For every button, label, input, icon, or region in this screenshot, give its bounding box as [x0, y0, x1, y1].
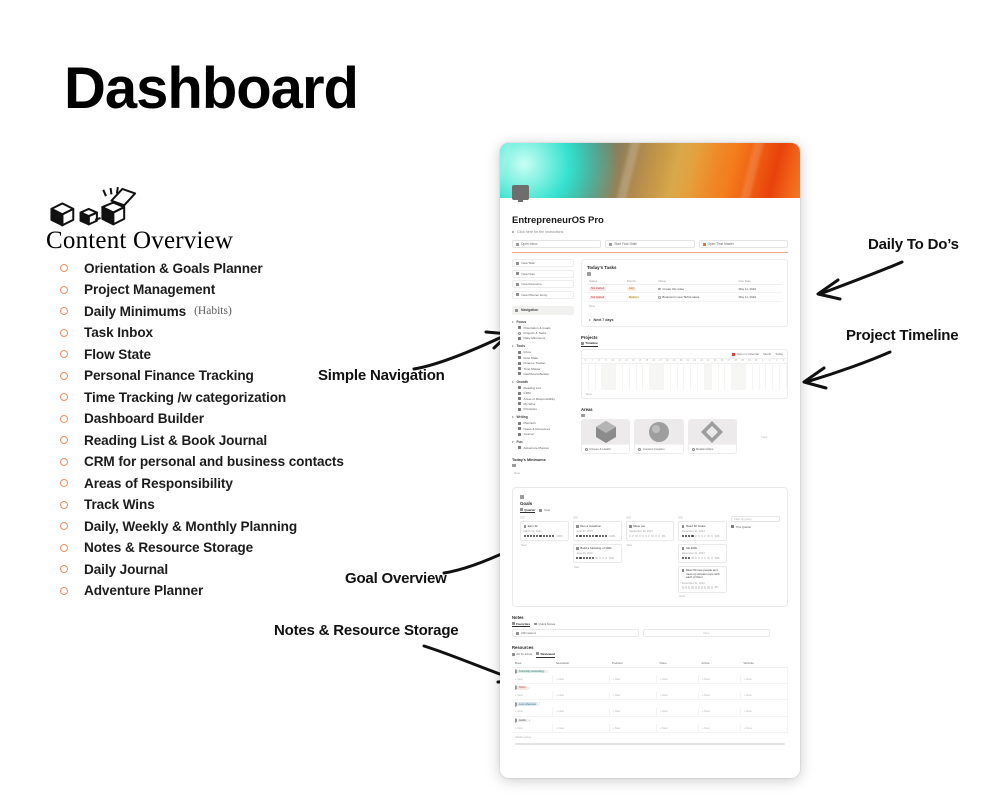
cell-empty	[775, 293, 782, 301]
timeline-cell[interactable]	[637, 364, 644, 390]
progress-dot	[583, 535, 585, 537]
progress-dot	[701, 586, 703, 588]
tab-quick-notes[interactable]: Quick Notes	[534, 622, 555, 627]
timeline-tick: 1	[760, 359, 767, 363]
progress-dot	[682, 586, 684, 588]
cell-empty	[775, 284, 782, 292]
goal-date: December 31, 2024	[682, 582, 724, 585]
progress-dot	[599, 557, 601, 559]
timeline-toolbar: Open in Calendar Month Today	[582, 350, 787, 358]
goal-name: Read 52 books	[686, 525, 705, 529]
quick-action-item[interactable]: New Resource	[512, 280, 574, 288]
progress-dot	[695, 557, 697, 559]
resource-cell[interactable]: + New	[512, 692, 553, 700]
progress-dot	[711, 586, 713, 588]
table-body: Not startedHighCreate this videoMay 11, …	[587, 284, 782, 301]
goal-icon	[682, 547, 685, 550]
tab-quarter[interactable]: Quarter	[520, 508, 535, 514]
nav-group-title[interactable]: Fun	[512, 440, 574, 444]
progress-dot	[645, 535, 647, 537]
nav-group: ToolsInboxFlow StateFinance TrackerTime …	[512, 344, 574, 376]
progress-dot	[685, 535, 687, 537]
compass-icon	[515, 309, 518, 312]
timeline-tick: 12	[623, 359, 630, 363]
goal-card-title: Earn 3k	[524, 525, 566, 529]
resource-cell[interactable]: + New	[553, 675, 609, 683]
timeline-tick: 8	[596, 359, 603, 363]
status-badge: Not started	[589, 287, 606, 291]
area-thumbnail	[635, 420, 682, 444]
resource-cell[interactable]: + New	[698, 724, 740, 732]
resources-column-header[interactable]: Article	[698, 660, 740, 668]
resource-cell[interactable]: + New	[656, 708, 698, 716]
tab-timeline[interactable]: Timeline	[581, 341, 598, 347]
quick-action-item[interactable]: New Note	[512, 270, 574, 278]
timeline-cell[interactable]	[609, 364, 616, 390]
goal-progress: 100%	[576, 535, 618, 538]
kanban-column-header	[520, 516, 569, 519]
nav-group-title[interactable]: Tools	[512, 344, 574, 348]
resource-cell[interactable]: + New	[698, 692, 740, 700]
header-button-label: Start Flow State	[614, 242, 637, 246]
tab-favorites[interactable]: Favorites	[512, 622, 530, 628]
timeline-tick: 4	[780, 359, 787, 363]
goal-progress: 0%	[682, 586, 724, 589]
flow-icon	[518, 356, 521, 359]
timeline-cell[interactable]	[719, 364, 726, 390]
priority-badge: High	[627, 287, 637, 291]
quick-action-label: New Task	[522, 261, 535, 265]
timeline-cell[interactable]	[766, 364, 773, 390]
sidebar-item-daily-minimums[interactable]: Daily Minimums	[512, 336, 574, 341]
progress-dot	[704, 557, 706, 559]
progress-dot	[536, 535, 538, 537]
area-label: Fitness & Health	[590, 447, 611, 451]
next-7-days-toggle[interactable]: Next 7 days	[587, 318, 782, 322]
navigation-header[interactable]: Navigation	[512, 306, 574, 315]
list-item-label: Time Tracking /w categorization	[84, 390, 286, 405]
note-item-label: New	[704, 631, 710, 635]
header-button[interactable]: Open Time Master	[699, 240, 788, 248]
goal-card[interactable]: Move outSeptember 30, 20240%	[626, 521, 675, 541]
area-card[interactable]: Relationships	[688, 419, 737, 454]
list-item-label: Orientation & Goals Planner	[84, 261, 263, 276]
annotation-daily-todos: Daily To Do’s	[868, 236, 959, 253]
kanban-column: Read 52 booksDecember 31, 202440%Ski 400…	[678, 516, 727, 598]
area-icon	[585, 448, 588, 451]
progress-dot	[632, 535, 634, 537]
timeline-tick: 3	[773, 359, 780, 363]
tag-icon	[731, 525, 734, 528]
progress-dot	[711, 535, 713, 537]
arrow-project-timeline-icon	[800, 348, 895, 396]
kanban-column-header	[626, 516, 675, 519]
resource-cell[interactable]: + New	[698, 708, 740, 716]
checkbox-icon[interactable]	[658, 296, 661, 299]
layers-icon	[518, 397, 521, 400]
quick-action-list: New TaskNew NoteNew ResourceNew Planner …	[512, 259, 574, 299]
column-header[interactable]: Due Date	[737, 278, 775, 285]
quick-action-label: New Planner Entry	[522, 293, 548, 297]
goal-date: March 31, 2024	[524, 530, 566, 533]
flow-icon	[609, 243, 612, 246]
column-header[interactable]: Status	[587, 278, 625, 285]
calendar-icon	[516, 293, 519, 296]
resource-cell[interactable]: + New	[553, 692, 609, 700]
cell-priority: Medium	[625, 293, 656, 301]
cell-status: Not started	[587, 284, 625, 292]
goal-percent: 0%	[662, 535, 665, 538]
column-chip	[678, 516, 683, 519]
annotation-notes-resource-storage: Notes & Resource Storage	[274, 622, 458, 639]
timeline-cell[interactable]	[746, 364, 753, 390]
kanban-column-header	[573, 516, 622, 519]
goal-date: December 31, 2024	[682, 530, 724, 533]
bullet-icon	[60, 372, 68, 380]
goal-name: Earn 3k	[528, 525, 538, 529]
kanban-column: Run a marathonJune 30, 2024100%Build a f…	[573, 516, 622, 598]
timeline-cell[interactable]	[698, 364, 705, 390]
cell-due-date: May 11, 2024	[737, 293, 775, 301]
bullet-icon	[60, 307, 68, 315]
goal-progress: 0%	[629, 535, 671, 538]
progress-dot	[602, 557, 604, 559]
timeline-cell[interactable]	[684, 364, 691, 390]
note-item[interactable]: Affirmations	[512, 629, 639, 637]
bullet-icon	[60, 264, 68, 272]
open-in-calendar-button[interactable]: Open in Calendar	[732, 352, 759, 356]
timeline-cell[interactable]	[725, 364, 732, 390]
goal-icon	[682, 525, 685, 528]
tab-timeline-label: Timeline	[585, 341, 598, 345]
tab-year[interactable]: Year	[539, 508, 550, 513]
goal-card[interactable]: Read 52 booksDecember 31, 202440%	[678, 521, 727, 541]
tasks-view-icon	[587, 272, 591, 276]
resource-cell[interactable]: + New	[740, 708, 787, 716]
resource-cell[interactable]: + New	[609, 708, 656, 716]
resource-cell[interactable]: + New	[512, 675, 553, 683]
list-item-label: Task Inbox	[84, 325, 153, 340]
timeline-tick: 21	[684, 359, 691, 363]
resource-cell[interactable]: + New	[656, 675, 698, 683]
tab-label: All To Inbox	[516, 652, 532, 656]
header-button[interactable]: Start Flow State	[605, 240, 694, 248]
progress-dot	[651, 535, 653, 537]
list-item-label: Project Management	[84, 282, 215, 297]
sidebar-item-dashboard-builder[interactable]: Dashboard Builder	[512, 371, 574, 376]
kanban-new-button[interactable]: New	[626, 544, 675, 547]
timeline-tick: 7	[589, 359, 596, 363]
progress-dot	[658, 535, 660, 537]
area-new-button[interactable]: New	[741, 419, 788, 454]
nav-group-title[interactable]: Growth	[512, 380, 574, 384]
sidebar-item-label: Adventure Planner	[524, 446, 550, 450]
resource-cell[interactable]: + New	[656, 724, 698, 732]
resource-cell[interactable]: + New	[553, 708, 609, 716]
resource-data-row[interactable]: + New+ New+ New+ New+ New+ New	[512, 692, 788, 700]
resource-cell[interactable]: + New	[609, 675, 656, 683]
list-item-label: Flow State	[84, 347, 151, 362]
resource-group-count: 3	[546, 670, 548, 673]
resource-group-tag: Low reference	[517, 702, 538, 706]
progress-dot	[530, 535, 532, 537]
progress-dot	[524, 535, 526, 537]
progress-dot	[691, 586, 693, 588]
range-label: Month	[763, 352, 771, 356]
bullet-dot-icon	[512, 231, 514, 233]
timeline-cell[interactable]	[753, 364, 760, 390]
areas-title: Areas	[581, 407, 788, 412]
goals-kanban-board: Earn 3kMarch 31, 2024100%NewRun a marath…	[520, 516, 780, 598]
timeline-cell[interactable]	[616, 364, 623, 390]
bullet-icon	[60, 565, 68, 573]
timeline-cell[interactable]	[664, 364, 671, 390]
progress-dot	[691, 557, 693, 559]
timeline-grid	[582, 364, 787, 390]
timeline-cell[interactable]	[596, 364, 603, 390]
timeline-cell[interactable]	[780, 364, 787, 390]
goal-name: Ski 400k	[686, 547, 697, 551]
area-card[interactable]: Content Creation	[634, 419, 683, 454]
timeline-cell[interactable]	[602, 364, 609, 390]
resource-cell[interactable]: + New	[553, 724, 609, 732]
resource-group-cell: Audio 4	[512, 716, 788, 724]
goal-card[interactable]: Meet 50 new people and meet up at least …	[678, 566, 727, 593]
list-item-label: Dashboard Builder	[84, 411, 204, 426]
page-title: Dashboard	[64, 60, 358, 118]
nav-group-title[interactable]: Writing	[512, 415, 574, 419]
resource-group-row[interactable]: Inbox 2	[512, 684, 788, 692]
timeline-cell[interactable]	[678, 364, 685, 390]
progress-dot	[592, 535, 594, 537]
timeline-cell[interactable]	[643, 364, 650, 390]
goals-filter-input[interactable]: Filter by group	[731, 516, 780, 522]
people-icon	[518, 392, 521, 395]
nav-group: WritingPlannersNotes & ResourcesJournal	[512, 415, 574, 437]
goals-filter-tag[interactable]: This Quarter	[731, 525, 780, 529]
resources-column-header[interactable]: Newsletter	[553, 660, 609, 668]
range-selector[interactable]: Month	[763, 352, 771, 356]
sidebar-item-label: Journal	[524, 432, 534, 436]
timeline-cell[interactable]	[650, 364, 657, 390]
timeline-tick: 28	[732, 359, 739, 363]
kanban-new-button[interactable]: New	[520, 544, 569, 547]
progress-dot	[549, 535, 551, 537]
checkbox-icon[interactable]	[658, 288, 661, 291]
resource-group-row[interactable]: Audio 4	[512, 716, 788, 724]
resource-data-row[interactable]: + New+ New+ New+ New+ New+ New	[512, 708, 788, 716]
nav-group-title[interactable]: Focus	[512, 320, 574, 324]
horizontal-scrollbar[interactable]	[515, 743, 785, 745]
area-icon	[638, 448, 641, 451]
progress-dot	[579, 535, 581, 537]
chevron-right-icon	[512, 416, 514, 418]
resource-cell[interactable]: + New	[740, 675, 787, 683]
areas-view-icon	[581, 414, 585, 418]
progress-dot	[698, 557, 700, 559]
table-row[interactable]: Not startedHighCreate this videoMay 11, …	[587, 284, 782, 292]
resource-cell[interactable]: + New	[609, 724, 656, 732]
timeline-cell[interactable]	[705, 364, 712, 390]
column-header[interactable]: Name	[656, 278, 736, 285]
goal-card[interactable]: Build a following of 100kJune 30, 202460…	[573, 544, 622, 564]
goal-card[interactable]: Ski 400kDecember 31, 202430%	[678, 544, 727, 564]
timeline-cell[interactable]	[657, 364, 664, 390]
area-label: Content Creation	[643, 447, 665, 451]
progress-dot	[698, 535, 700, 537]
sidebar-item-label: Orientation & Goals	[524, 326, 551, 330]
cell-due-date: May 11, 2024	[737, 284, 775, 292]
resource-group-count: 1	[538, 703, 540, 706]
timeline-icon	[581, 342, 584, 345]
progress-dot	[688, 557, 690, 559]
progress-dot	[685, 557, 687, 559]
goal-card-title: Build a following of 100k	[576, 547, 618, 551]
projects-title: Projects	[581, 335, 788, 340]
diamond-icon	[699, 419, 725, 446]
tasks-new-button[interactable]: New	[587, 302, 782, 310]
tab-label: Quarter	[524, 508, 535, 512]
timeline-tick: 15	[643, 359, 650, 363]
list-item-label: Daily Journal	[84, 562, 168, 577]
list-item: Areas of Responsibility	[60, 473, 480, 494]
timeline-cell[interactable]	[589, 364, 596, 390]
header-button[interactable]: Open Inbox	[512, 240, 601, 248]
sidebar-item-label: My Wins	[524, 402, 536, 406]
journal-icon	[518, 433, 521, 436]
timeline-new-button[interactable]: New	[582, 390, 787, 398]
todays-tasks-title: Today's Tasks	[587, 265, 782, 270]
nav-group: GrowthReading ListCRMAreas of Responsibi…	[512, 380, 574, 412]
inbox-icon	[518, 351, 521, 354]
goal-icon	[576, 525, 579, 528]
kanban-new-button[interactable]: New	[678, 595, 727, 598]
list-item-label: Notes & Resource Storage	[84, 540, 253, 555]
timeline-cell[interactable]	[582, 364, 589, 390]
resource-cell[interactable]: + New	[740, 724, 787, 732]
resource-data-row[interactable]: + New+ New+ New+ New+ New+ New	[512, 724, 788, 732]
sidebar-item-principles[interactable]: Principles	[512, 407, 574, 412]
goal-percent: 0%	[715, 586, 718, 589]
goals-panel: Goals QuarterYear Earn 3kMarch 31, 20241…	[512, 487, 788, 607]
progress-dot	[682, 535, 684, 537]
progress-dot	[546, 535, 548, 537]
column-add[interactable]	[775, 278, 782, 285]
bullet-icon	[60, 329, 68, 337]
resource-icon	[516, 283, 519, 286]
bullet-icon	[60, 415, 68, 423]
note-item[interactable]: New	[643, 629, 770, 637]
kanban-new-button[interactable]: New	[573, 566, 622, 569]
orange-divider	[512, 252, 788, 253]
resources-column-header[interactable]: Book	[512, 660, 553, 668]
timeline-cell[interactable]	[712, 364, 719, 390]
book-icon	[518, 386, 521, 389]
progress-dot	[688, 586, 690, 588]
table-row[interactable]: Not startedMediumBrainstorm new TikTok i…	[587, 293, 782, 301]
content-feature-list: Orientation & Goals PlannerProject Manag…	[60, 258, 480, 602]
progress-dot	[605, 557, 607, 559]
area-card[interactable]: Fitness & Health	[581, 419, 630, 454]
resource-group-row[interactable]: Low reference 1	[512, 700, 788, 708]
resource-cell[interactable]: + New	[740, 692, 787, 700]
timeline-cell[interactable]	[760, 364, 767, 390]
timeline-tick: 30	[746, 359, 753, 363]
map-icon	[518, 446, 521, 449]
goal-card-title: Read 52 books	[682, 525, 724, 529]
tab-label: Reviewed	[541, 652, 555, 656]
cell-priority: High	[625, 284, 656, 292]
resource-group-tag: Currently consuming	[517, 670, 546, 674]
goal-card[interactable]: Earn 3kMarch 31, 2024100%	[520, 521, 569, 541]
calendar-icon	[518, 422, 521, 425]
bullet-icon	[60, 544, 68, 552]
goal-card[interactable]: Run a marathonJune 30, 2024100%	[573, 521, 622, 541]
resources-column-header[interactable]: Website	[740, 660, 787, 668]
timeline-cell[interactable]	[671, 364, 678, 390]
timeline-cell[interactable]	[623, 364, 630, 390]
resource-cell[interactable]: + New	[512, 708, 553, 716]
sidebar-item-journal[interactable]: Journal	[512, 431, 574, 436]
tab-reviewed[interactable]: Reviewed	[536, 652, 555, 658]
sidebar-item-label: Dashboard Builder	[524, 372, 550, 376]
resource-group-count: 2	[528, 686, 530, 689]
resource-cell[interactable]: + New	[609, 692, 656, 700]
progress-dot	[595, 557, 597, 559]
timeline-cell[interactable]	[691, 364, 698, 390]
resource-cell[interactable]: + New	[512, 724, 553, 732]
list-item: CRM for personal and business contacts	[60, 451, 480, 472]
tab-all-to-inbox[interactable]: All To Inbox	[512, 652, 532, 657]
resource-group-row[interactable]: Currently consuming 3	[512, 667, 788, 675]
resource-data-row[interactable]: + New+ New+ New+ New+ New+ New	[512, 675, 788, 683]
resource-cell[interactable]: + New	[656, 692, 698, 700]
column-chip	[626, 516, 631, 519]
progress-dot	[589, 557, 591, 559]
minimums-icon	[512, 464, 516, 468]
resource-group-cell: Low reference 1	[512, 700, 788, 708]
cell-name: Create this video	[656, 284, 736, 292]
resource-cell[interactable]: + New	[698, 675, 740, 683]
resources-column-header[interactable]: Video	[656, 660, 698, 668]
today-button[interactable]: Today	[775, 352, 783, 356]
minimums-new-button[interactable]: New	[512, 469, 574, 477]
bullet-icon	[60, 479, 68, 487]
progress-dot	[533, 535, 535, 537]
timeline-tick: 17	[657, 359, 664, 363]
quick-action-item[interactable]: New Task	[512, 259, 574, 267]
inbox-icon	[516, 243, 519, 246]
timeline-cell[interactable]	[732, 364, 739, 390]
quick-action-item[interactable]: New Planner Entry	[512, 291, 574, 299]
area-icon	[692, 448, 695, 451]
timeline-cell[interactable]	[773, 364, 780, 390]
sidebar-item-label: Flow State	[524, 356, 539, 360]
timeline-cell[interactable]	[630, 364, 637, 390]
hidden-group-label[interactable]: Hidden group	[512, 733, 788, 739]
sidebar-item-adventure-planner[interactable]: Adventure Planner	[512, 445, 574, 450]
resource-group-count: 4	[528, 719, 530, 722]
goal-date: June 30, 2024	[576, 530, 618, 533]
main-column: Today's Tasks StatusPriorityNameDue Date…	[581, 259, 788, 477]
target-icon	[518, 326, 521, 329]
timeline-cell[interactable]	[739, 364, 746, 390]
goals-filter-tag-label: This Quarter	[736, 525, 752, 529]
column-header[interactable]: Priority	[625, 278, 656, 285]
cell-status: Not started	[587, 293, 625, 301]
resources-column-header[interactable]: Podcast	[609, 660, 656, 668]
task-name: Create this video	[662, 287, 684, 291]
